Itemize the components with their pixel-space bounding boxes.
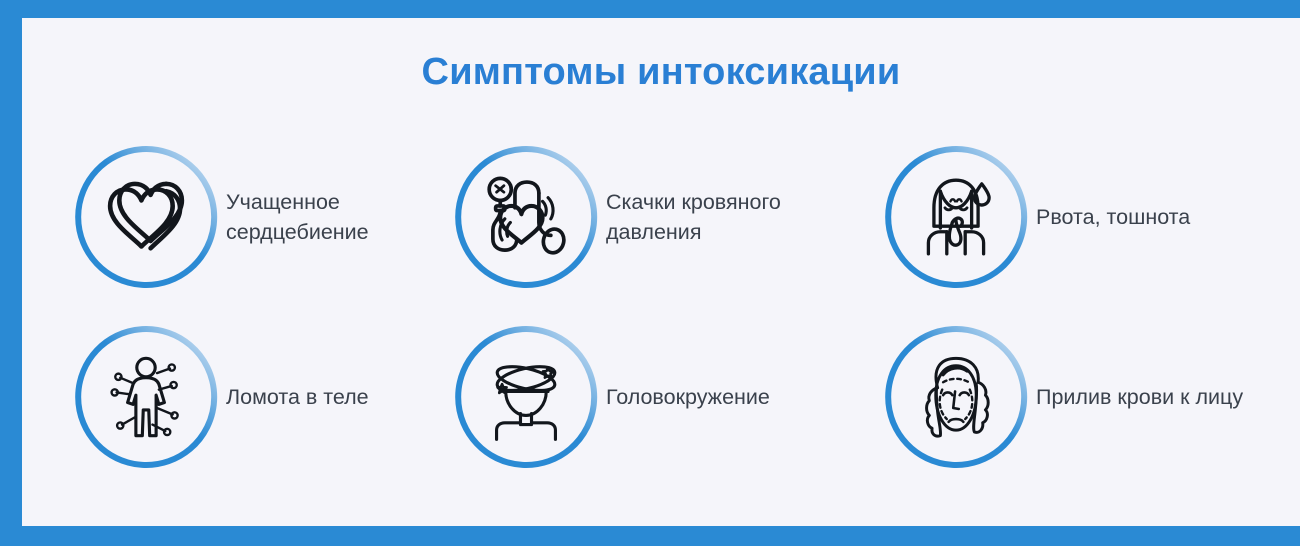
symptom-item-dizziness: Головокружение <box>452 323 770 471</box>
symptom-item-facial-flushing: Прилив крови к лицу <box>882 323 1243 471</box>
page-title: Симптомы интоксикации <box>22 51 1300 94</box>
icon-badge <box>452 323 600 471</box>
symptom-label: Прилив крови к лицу <box>1036 382 1243 412</box>
infographic-root: Симптомы интоксикации <box>0 0 1300 546</box>
symptom-item-body-aches: Ломота в теле <box>72 323 369 471</box>
symptom-label: Скачки кровяного давления <box>606 187 781 247</box>
symptom-label: Рвота, тошнота <box>1036 202 1190 232</box>
flushed-face-icon <box>910 351 1002 443</box>
symptom-item-blood-pressure-spikes: Скачки кровяного давления <box>452 143 781 291</box>
symptom-label: Учащенное сердцебиение <box>226 187 369 247</box>
double-heart-icon <box>100 171 192 263</box>
blood-pressure-monitor-icon <box>480 171 572 263</box>
icon-badge <box>882 143 1030 291</box>
icon-badge <box>452 143 600 291</box>
content-panel: Симптомы интоксикации <box>22 18 1300 526</box>
icon-badge <box>72 143 220 291</box>
icon-badge <box>72 323 220 471</box>
body-pain-points-icon <box>100 351 192 443</box>
dizzy-head-icon <box>480 351 572 443</box>
nausea-person-icon <box>910 171 1002 263</box>
symptom-item-vomiting-nausea: Рвота, тошнота <box>882 143 1190 291</box>
symptom-item-rapid-heartbeat: Учащенное сердцебиение <box>72 143 369 291</box>
symptom-label: Головокружение <box>606 382 770 412</box>
icon-badge <box>882 323 1030 471</box>
symptom-label: Ломота в теле <box>226 382 369 412</box>
